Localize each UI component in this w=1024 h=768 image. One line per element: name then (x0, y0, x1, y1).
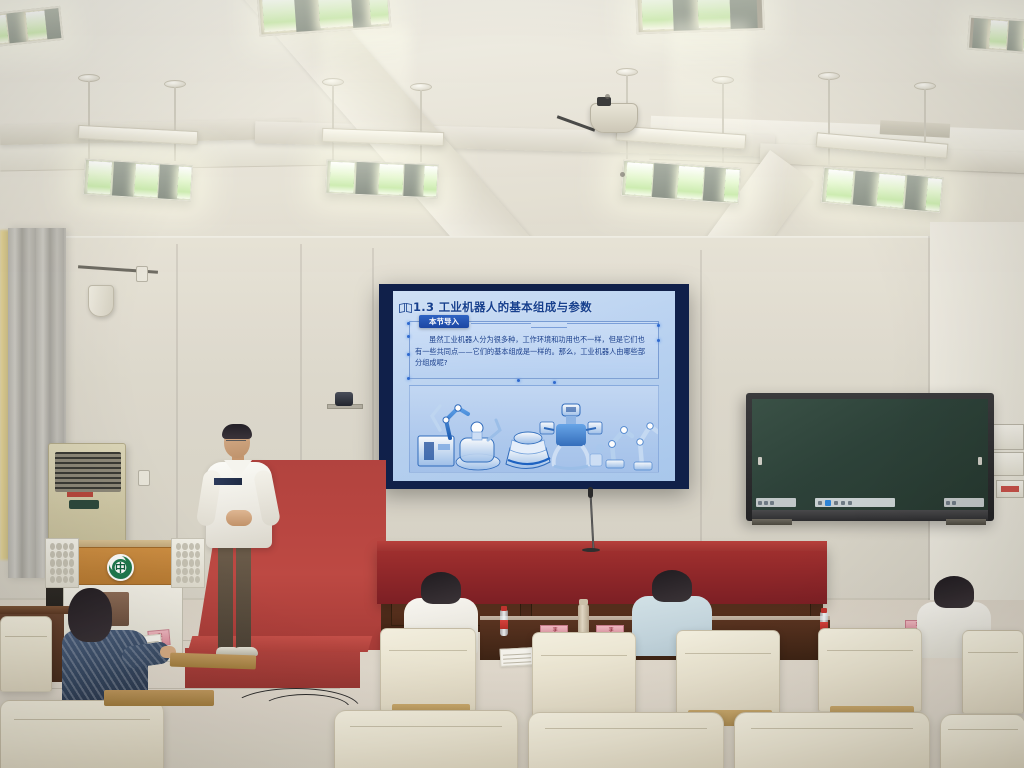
projection-screen: 1.3 工业机器人的基本组成与参数 本节导入 虽然工业机器人分为很多种，工作环境… (379, 284, 689, 489)
school-emblem-glyph: 中 (115, 562, 126, 573)
callout-node (407, 353, 410, 356)
wall-socket (138, 470, 150, 486)
ceiling-light-pendant-1 (72, 74, 212, 204)
school-emblem-inner: 中 (112, 559, 129, 576)
audience-hair (421, 572, 461, 604)
presenter-shirt-placket (214, 478, 242, 485)
callout-node (407, 377, 410, 380)
ceiling-light-recessed-3 (635, 0, 765, 34)
audience-chair-front[interactable] (734, 712, 930, 768)
callout-node (553, 381, 556, 384)
app-icon[interactable] (841, 501, 845, 505)
window-icon[interactable] (758, 501, 762, 505)
wall-socket (136, 266, 148, 282)
ac-label (67, 492, 93, 497)
audience-chair-front[interactable] (528, 712, 724, 768)
slide-body-text: 虽然工业机器人分为很多种，工作环境和功用也不一样，但是它们也有一些共同点——它们… (415, 334, 651, 369)
classroom-photo-scene: 1.3 工业机器人的基本组成与参数 本节导入 虽然工业机器人分为很多种，工作环境… (0, 0, 1024, 768)
audience-hair (652, 570, 692, 602)
app-icon[interactable] (770, 501, 774, 505)
folder-icon[interactable] (764, 501, 768, 505)
ceiling-sensor (605, 94, 610, 99)
audience-chair-front[interactable] (0, 700, 164, 768)
bottle-cap (821, 608, 827, 613)
callout-node (657, 339, 660, 342)
ac-display (69, 500, 99, 509)
presenter-leg-right (236, 544, 251, 650)
callout-rule (567, 323, 659, 324)
smartboard-mount (752, 519, 792, 525)
window-icon[interactable] (818, 501, 822, 505)
school-emblem: 中 (107, 554, 134, 581)
ceiling-light-pendant-4 (810, 72, 960, 204)
browser-icon[interactable] (825, 500, 831, 506)
presenter-hands (226, 510, 252, 526)
presenter-hair (222, 424, 252, 439)
audience-chair[interactable] (0, 616, 52, 692)
ceiling-light-recessed-4 (967, 16, 1024, 55)
ceiling-light-pendant-2 (318, 78, 458, 208)
head-table-edge (377, 541, 827, 551)
smartboard-taskbar-left[interactable] (756, 498, 796, 507)
settings-icon[interactable] (848, 501, 852, 505)
ac-grille (55, 452, 121, 492)
smartboard-sensor (758, 457, 762, 465)
audience-chair-front[interactable] (334, 710, 518, 768)
audience-chair[interactable] (818, 628, 922, 712)
callout-rule (471, 323, 531, 324)
ceiling-light-recessed-2 (257, 0, 392, 37)
audience-hair (934, 576, 974, 608)
lectern-speaker-right (171, 538, 205, 588)
folder-icon[interactable] (834, 501, 838, 505)
smartboard-taskbar-right[interactable] (944, 498, 984, 507)
presentation-slide: 1.3 工业机器人的基本组成与参数 本节导入 虽然工业机器人分为很多种，工作环境… (393, 291, 675, 481)
bottle-cap (501, 606, 507, 611)
slide-robot-illustration (409, 385, 659, 473)
presenter-leg-left (218, 544, 233, 650)
audience-chair[interactable] (676, 630, 780, 716)
audience-chair[interactable] (962, 630, 1024, 714)
ceiling-light-recessed-1 (0, 6, 64, 48)
open-book-icon (399, 300, 412, 310)
chair-armrest (170, 653, 256, 670)
documents (500, 647, 535, 667)
bottle-label (500, 620, 508, 629)
thermos-cap (579, 599, 588, 605)
microphone-icon (588, 487, 593, 498)
microphone-base (582, 548, 600, 552)
ptz-camera-icon (335, 392, 353, 406)
callout-node (657, 324, 660, 327)
ceiling-sensor (620, 172, 625, 177)
lectern-speaker-left (45, 538, 79, 588)
power-icon[interactable] (952, 501, 956, 505)
projector-icon (590, 103, 638, 133)
notice-marker (1001, 486, 1019, 492)
notice-board (996, 480, 1024, 498)
audience-chair[interactable] (380, 628, 476, 712)
speaker-icon (88, 285, 114, 317)
callout-node (517, 379, 520, 382)
industrial-robots-graphic (410, 386, 659, 473)
glasses-icon (226, 440, 246, 444)
ceiling (0, 0, 1024, 252)
chair-armrest (104, 690, 214, 706)
wall-joint (176, 244, 178, 574)
audience-chair[interactable] (532, 632, 636, 720)
callout-node (407, 335, 410, 338)
smartboard-sensor (978, 457, 982, 465)
smartboard-screen[interactable] (752, 399, 988, 510)
callout-rule (531, 327, 567, 328)
interactive-smartboard[interactable] (746, 393, 994, 521)
slide-section-tab: 本节导入 (419, 315, 469, 328)
water-bottle (500, 610, 508, 636)
volume-icon[interactable] (946, 501, 950, 505)
smartboard-mount (946, 519, 986, 525)
audience-hair (68, 588, 112, 642)
presenter-legs (218, 544, 258, 650)
wall-joint (700, 250, 702, 550)
smartboard-taskbar-center[interactable] (815, 498, 894, 507)
ceiling-light-pendant-3 (612, 68, 762, 198)
presenter (196, 418, 286, 660)
slide-title: 1.3 工业机器人的基本组成与参数 (413, 299, 665, 315)
audience-chair-front[interactable] (940, 714, 1024, 768)
callout-node (407, 322, 410, 325)
